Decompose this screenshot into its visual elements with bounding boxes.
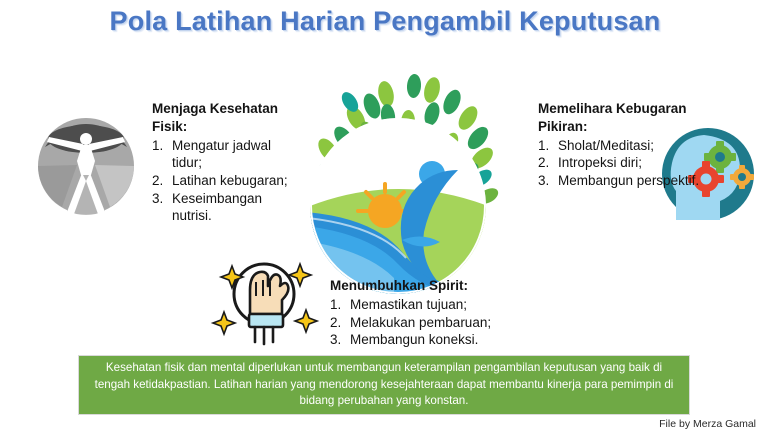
- list-text: Melakukan pembaruan;: [350, 314, 530, 332]
- list-item: 3. Membangun perspektif.: [538, 172, 703, 190]
- list-text: Memastikan tujuan;: [350, 296, 530, 314]
- list-number: 2.: [538, 154, 558, 172]
- block-heading-spirit: Menumbuhkan Spirit:: [330, 277, 530, 295]
- list-number: 1.: [152, 137, 172, 155]
- list-number: 1.: [330, 296, 350, 314]
- list-number: 2.: [330, 314, 350, 332]
- list-text: Sholat/Meditasi;: [558, 137, 703, 155]
- list-number: 2.: [152, 172, 172, 190]
- summary-banner: Kesehatan fisik dan mental diperlukan un…: [78, 355, 690, 415]
- block-list-spirit: 1. Memastikan tujuan; 2. Melakukan pemba…: [330, 296, 530, 349]
- vitruvian-person-icon: [37, 117, 135, 215]
- list-text: Mengatur jadwal tidur;: [172, 137, 302, 172]
- list-item: 2. Intropeksi diri;: [538, 154, 703, 172]
- list-text: Keseimbangan nutrisi.: [172, 190, 302, 225]
- list-number: 1.: [538, 137, 558, 155]
- list-item: 3. Keseimbangan nutrisi.: [152, 190, 302, 225]
- list-text: Latihan kebugaran;: [172, 172, 302, 190]
- list-item: 1. Memastikan tujuan;: [330, 296, 530, 314]
- lightbulb-fist-icon: [208, 252, 320, 348]
- list-item: 3. Membangun koneksi.: [330, 331, 530, 349]
- block-menjaga-kesehatan-fisik: Menjaga Kesehatan Fisik: 1. Mengatur jad…: [152, 100, 302, 225]
- logo-scene: [302, 114, 494, 296]
- list-number: 3.: [330, 331, 350, 349]
- summary-banner-text: Kesehatan fisik dan mental diperlukan un…: [89, 360, 679, 409]
- list-text: Membangun perspektif.: [558, 172, 703, 190]
- block-list-pikiran: 1. Sholat/Meditasi; 2. Intropeksi diri; …: [538, 137, 703, 190]
- fist-icon: [250, 272, 288, 314]
- block-list-fisik: 1. Mengatur jadwal tidur; 2. Latihan keb…: [152, 137, 302, 225]
- block-heading-pikiran: Memelihara Kebugaran Pikiran:: [538, 100, 703, 136]
- list-item: 2. Melakukan pembaruan;: [330, 314, 530, 332]
- page-title: Pola Latihan Harian Pengambil Keputusan: [0, 6, 770, 37]
- block-heading-fisik: Menjaga Kesehatan Fisik:: [152, 100, 302, 136]
- block-menumbuhkan-spirit: Menumbuhkan Spirit: 1. Memastikan tujuan…: [330, 277, 530, 349]
- block-memelihara-kebugaran-pikiran: Memelihara Kebugaran Pikiran: 1. Sholat/…: [538, 100, 703, 190]
- list-text: Intropeksi diri;: [558, 154, 703, 172]
- list-number: 3.: [152, 190, 172, 208]
- infographic-canvas: Pola Latihan Harian Pengambil Keputusan: [0, 0, 770, 437]
- list-item: 1. Mengatur jadwal tidur;: [152, 137, 302, 172]
- list-item: 1. Sholat/Meditasi;: [538, 137, 703, 155]
- list-text: Membangun koneksi.: [350, 331, 530, 349]
- credit-text: File by Merza Gamal: [659, 418, 756, 430]
- list-number: 3.: [538, 172, 558, 190]
- list-item: 2. Latihan kebugaran;: [152, 172, 302, 190]
